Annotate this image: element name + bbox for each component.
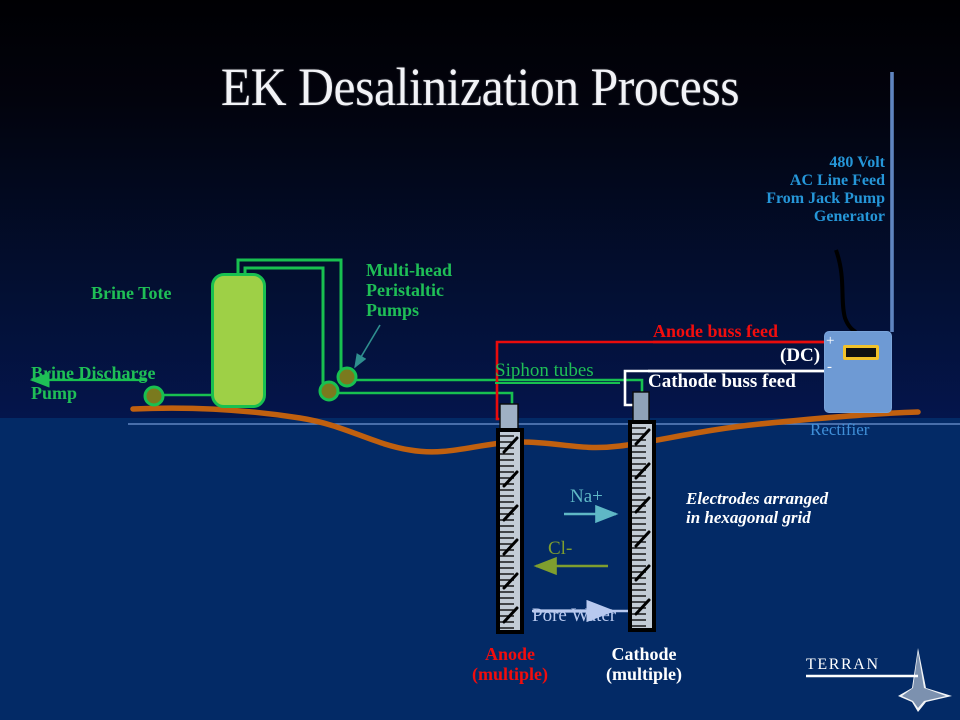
anode-label: Anode (multiple) <box>462 644 558 684</box>
pore-water-label: Pore Water <box>532 605 616 626</box>
anode-buss-feed-label: Anode buss feed <box>653 321 778 341</box>
page-title: EK Desalinization Process <box>38 56 921 118</box>
terran-logo: TERRAN <box>800 650 950 712</box>
brine-tote-label: Brine Tote <box>91 283 172 303</box>
ac-feed-cable <box>836 250 856 332</box>
peristaltic-pump-2 <box>320 382 338 400</box>
brine-tote-tank[interactable] <box>211 273 266 408</box>
siphon-tubes-label: Siphon tubes <box>495 360 594 381</box>
ac-line-feed-label: 480 Volt AC Line Feed From Jack Pump Gen… <box>717 154 885 226</box>
cathode-electrode <box>630 392 654 630</box>
electrodes-note-label: Electrodes arranged in hexagonal grid <box>686 489 828 527</box>
cathode-label: Cathode (multiple) <box>592 644 696 684</box>
siphon-run-to-anode <box>334 393 512 418</box>
peristaltic-pump-1 <box>338 368 356 386</box>
rectifier-display <box>843 345 879 360</box>
cathode-buss-feed-label: Cathode buss feed <box>648 371 796 392</box>
pump-callout-arrow <box>355 325 380 367</box>
positive-terminal-label: + <box>826 334 834 349</box>
rectifier-label: Rectifier <box>810 420 869 439</box>
dc-label: (DC) <box>780 345 820 366</box>
brine-discharge-pump-label: Brine Discharge Pump <box>31 363 155 403</box>
terran-logo-text: TERRAN <box>806 656 880 674</box>
ground-surface-line <box>133 408 918 452</box>
cl-ion-label: Cl- <box>548 538 572 559</box>
anode-electrode <box>498 404 522 632</box>
multi-head-pumps-label: Multi-head Peristaltic Pumps <box>366 260 452 320</box>
slide-canvas: EK Desalinization Process + - 480 Volt A… <box>0 0 960 720</box>
na-ion-label: Na+ <box>570 486 603 507</box>
negative-terminal-label: - <box>827 360 832 375</box>
